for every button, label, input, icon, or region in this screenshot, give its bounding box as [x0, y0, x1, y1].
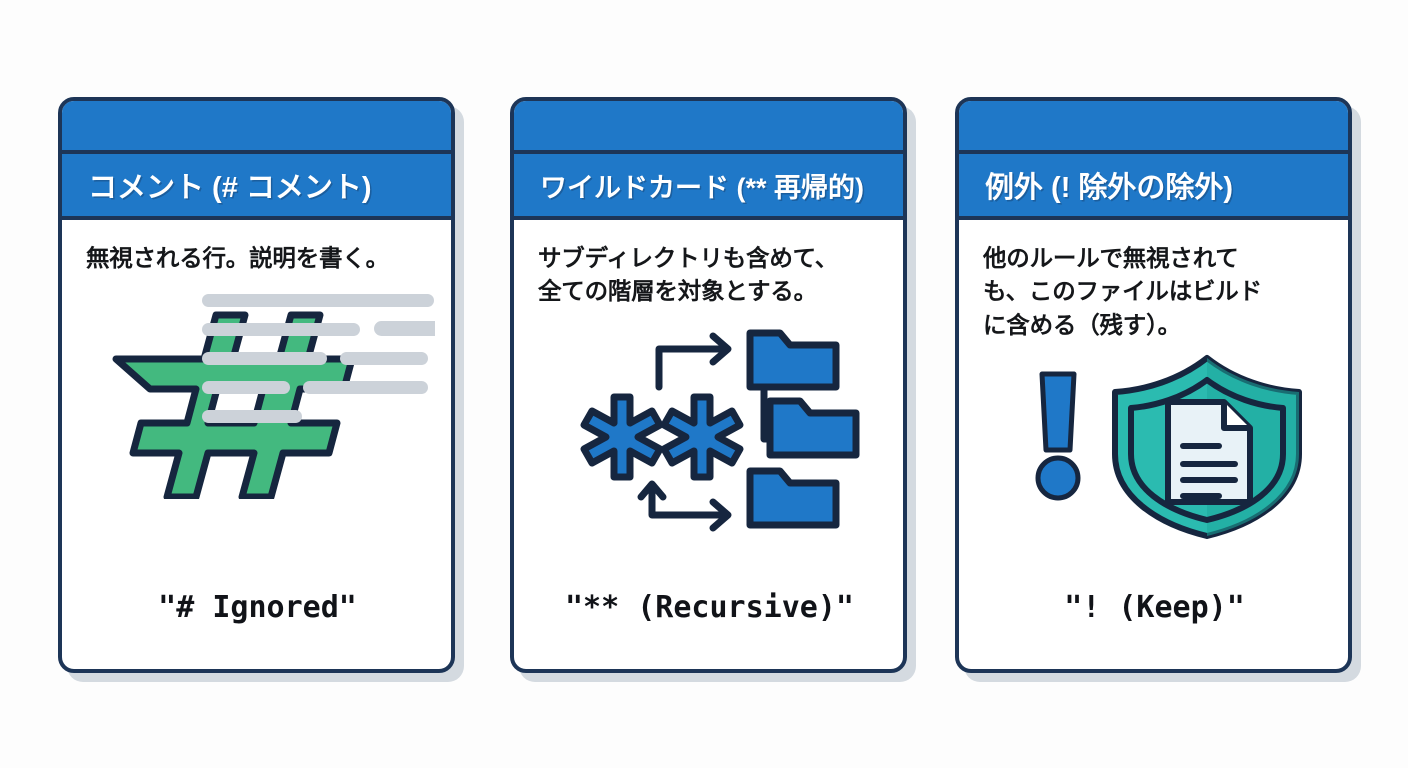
card-description: 他のルールで無視されて も、このファイルはビルド に含める（残す）。 — [983, 242, 1326, 342]
placeholder-line — [202, 323, 360, 336]
card-exception: 例外 (! 除外の除外) 他のルールで無視されて も、このファイルはビルド に含… — [955, 97, 1352, 673]
card-code-label: "** (Recursive)" — [538, 590, 881, 669]
card-top-strip — [514, 101, 903, 154]
arrow-bottom-right — [641, 484, 728, 528]
infographic-board: コメント (# コメント) 無視される行。説明を書く。 — [0, 0, 1408, 768]
shield-icon — [1115, 358, 1299, 536]
illustration-hash-with-text-lines — [86, 275, 429, 590]
card-code-label: "# Ignored" — [86, 590, 429, 669]
asterisk-icon — [584, 397, 660, 477]
illustration-exclamation-shield-document — [983, 342, 1326, 590]
placeholder-line — [340, 352, 428, 365]
card-header: 例外 (! 除外の除外) — [959, 154, 1348, 220]
placeholder-line — [202, 381, 290, 394]
card-description: サブディレクトリも含めて、 全ての階層を対象とする。 — [538, 242, 881, 309]
placeholder-line-group — [202, 294, 434, 423]
card-title: 例外 (! 除外の除外) — [985, 164, 1233, 206]
folder-icon — [750, 471, 836, 525]
placeholder-line — [202, 294, 434, 307]
asterisk-icon — [664, 397, 740, 477]
card-code-label: "! (Keep)" — [983, 590, 1326, 669]
card-wildcard: ワイルドカード (** 再帰的) サブディレクトリも含めて、 全ての階層を対象と… — [510, 97, 907, 673]
card-header: ワイルドカード (** 再帰的) — [514, 154, 903, 220]
folder-icon — [750, 333, 836, 387]
placeholder-line — [202, 410, 302, 423]
card-body: 他のルールで無視されて も、このファイルはビルド に含める（残す）。 — [959, 220, 1348, 669]
document-icon — [1168, 402, 1250, 502]
card-header: コメント (# コメント) — [62, 154, 451, 220]
arrow-top-right — [659, 336, 728, 387]
exclamation-icon — [1038, 374, 1078, 498]
card-title: ワイルドカード (** 再帰的) — [540, 166, 864, 205]
card-top-strip — [62, 101, 451, 154]
folder-icon — [770, 401, 856, 455]
placeholder-line — [202, 352, 327, 365]
card-title: コメント (# コメント) — [88, 164, 372, 206]
card-top-strip — [959, 101, 1348, 154]
card-body: サブディレクトリも含めて、 全ての階層を対象とする。 — [514, 220, 903, 669]
card-body: 無視される行。説明を書く。 — [62, 220, 451, 669]
placeholder-line — [303, 381, 428, 394]
card-description: 無視される行。説明を書く。 — [86, 242, 429, 275]
card-comment: コメント (# コメント) 無視される行。説明を書く。 — [58, 97, 455, 673]
illustration-double-asterisk-folders — [538, 309, 881, 590]
